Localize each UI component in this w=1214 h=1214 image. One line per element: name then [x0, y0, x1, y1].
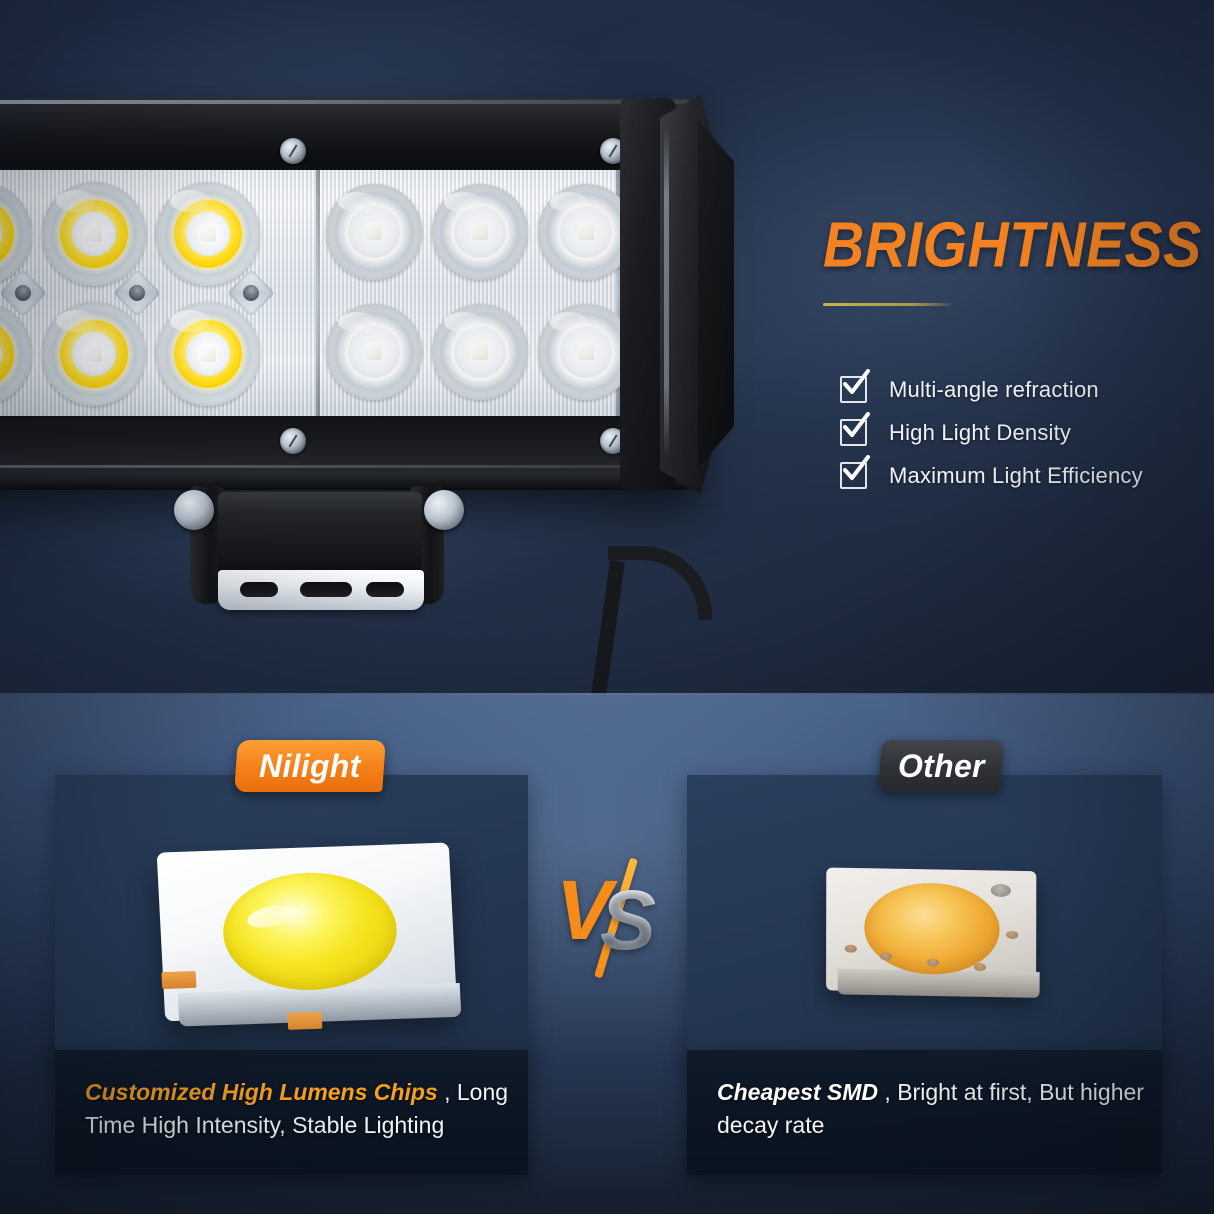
feature-item: Multi-angle refraction	[840, 368, 1200, 411]
bracket-adjust-knob	[424, 490, 464, 530]
led-reflector-cup	[156, 182, 260, 286]
end-cap-facet	[698, 120, 734, 468]
other-smd-chip-photo	[820, 849, 1057, 1025]
chip-cathode-mark	[991, 884, 1011, 897]
checkbox-checked-icon	[840, 462, 867, 489]
cup-glint	[550, 312, 588, 332]
feature-item: Maximum Light Efficiency	[840, 454, 1200, 497]
headline-block: BRIGHTNESS	[823, 214, 1183, 306]
feature-label: Maximum Light Efficiency	[889, 463, 1143, 489]
chip-contact-dot	[845, 945, 857, 953]
led-light-bar-photo	[0, 98, 750, 518]
led-die	[578, 224, 594, 240]
nilight-brand-label: Nilight	[259, 748, 361, 785]
chip-contact-dot	[927, 959, 939, 967]
checkbox-checked-icon	[840, 376, 867, 403]
checkbox-checked-icon	[840, 419, 867, 446]
nilight-caption-emphasis: Customized High Lumens Chips	[85, 1079, 438, 1105]
other-brand-tag: Other	[878, 740, 1004, 792]
cup-glint	[338, 192, 376, 212]
housing-bottom-highlight	[0, 465, 680, 468]
chip-solder-pad	[287, 1012, 322, 1030]
chip-solder-pad	[161, 971, 196, 989]
versus-s-letter: S	[600, 878, 656, 962]
chip-contact-dot	[1006, 931, 1018, 939]
led-reflector-cup	[326, 304, 422, 400]
led-die	[366, 224, 382, 240]
led-phosphor-ring	[0, 200, 14, 268]
led-reflector-cup	[326, 184, 422, 280]
lens-reflector-array	[0, 170, 660, 416]
bracket-slot	[240, 582, 278, 597]
led-phosphor-ring	[0, 320, 14, 388]
cup-glint	[444, 192, 482, 212]
other-caption-emphasis: Cheapest SMD	[717, 1079, 878, 1105]
led-reflector-cup	[42, 302, 146, 406]
led-reflector-cup	[156, 302, 260, 406]
housing-top-highlight	[0, 100, 696, 104]
cup-glint	[444, 312, 482, 332]
feature-list: Multi-angle refraction High Light Densit…	[840, 368, 1200, 497]
feature-label: Multi-angle refraction	[889, 377, 1099, 403]
cup-glint	[170, 310, 210, 332]
bracket-slot	[300, 582, 352, 597]
led-die	[472, 224, 488, 240]
led-die	[86, 346, 102, 362]
page-title: BRIGHTNESS	[823, 214, 1183, 278]
chip-contact-dot	[880, 952, 892, 960]
versus-badge: V S	[556, 862, 674, 974]
other-brand-label: Other	[898, 748, 985, 785]
power-wire	[575, 560, 743, 695]
other-caption: Cheapest SMD , Bright at first, But high…	[717, 1076, 1144, 1141]
feature-label: High Light Density	[889, 420, 1071, 446]
led-die	[578, 344, 594, 360]
bracket-base-plate	[218, 570, 424, 610]
cup-glint	[56, 310, 96, 332]
led-reflector-cup	[432, 184, 528, 280]
housing-screw-icon	[280, 428, 306, 454]
title-underline	[823, 303, 951, 306]
led-die	[200, 226, 216, 242]
nilight-caption-panel: Customized High Lumens Chips , Long Time…	[55, 1050, 528, 1175]
light-bar-end-cap	[620, 94, 738, 498]
led-reflector-cup	[42, 182, 146, 286]
mounting-bracket	[178, 486, 458, 616]
cup-glint	[170, 190, 210, 212]
nilight-caption: Customized High Lumens Chips , Long Time…	[85, 1076, 510, 1141]
cup-glint	[56, 190, 96, 212]
product-infographic: BRIGHTNESS Multi-angle refraction Hig	[0, 0, 1214, 1214]
cup-glint	[550, 192, 588, 212]
other-caption-panel: Cheapest SMD , Bright at first, But high…	[687, 1050, 1162, 1175]
nilight-brand-tag: Nilight	[234, 740, 386, 792]
led-die	[86, 226, 102, 242]
led-die	[472, 344, 488, 360]
end-cap-highlight	[664, 128, 669, 458]
bracket-adjust-knob	[174, 490, 214, 530]
feature-item: High Light Density	[840, 411, 1200, 454]
brightness-hero-section: BRIGHTNESS Multi-angle refraction Hig	[0, 0, 1214, 695]
housing-screw-icon	[280, 138, 306, 164]
lens-seam	[316, 170, 320, 416]
led-die	[200, 346, 216, 362]
bracket-slot	[366, 582, 404, 597]
led-die	[366, 344, 382, 360]
chip-contact-dot	[974, 963, 986, 971]
cup-glint	[338, 312, 376, 332]
bracket-block	[218, 492, 422, 576]
led-reflector-cup	[432, 304, 528, 400]
